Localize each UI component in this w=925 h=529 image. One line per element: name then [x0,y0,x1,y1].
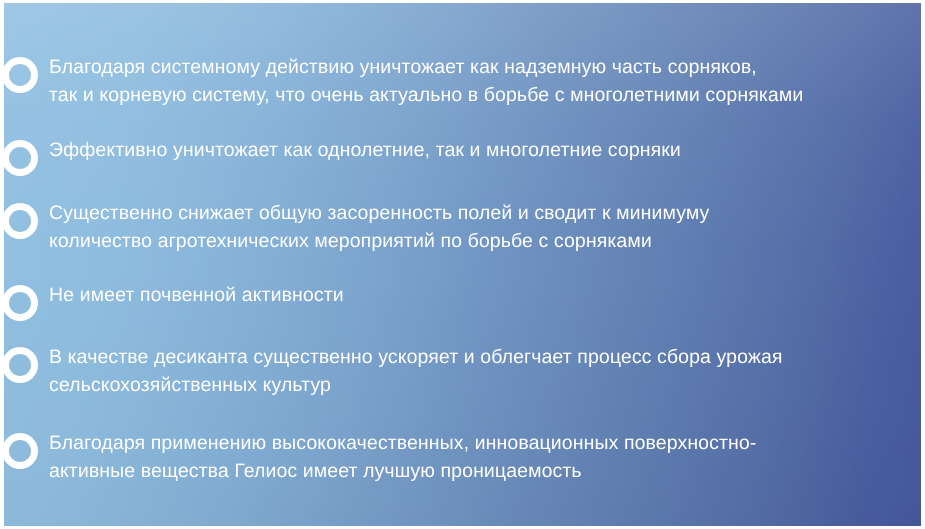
ring-bullet-icon [4,203,38,239]
bullet-text: Эффективно уничтожает как однолетние, та… [49,136,911,164]
ring-bullet-icon [4,347,38,383]
slide-frame: Благодаря системному действию уничтожает… [0,0,925,529]
benefits-bullet-list: Благодаря системному действию уничтожает… [4,3,921,526]
ring-bullet-icon [4,140,38,176]
slide-canvas: Благодаря системному действию уничтожает… [4,3,921,526]
bullet-text: Благодаря применению высококачественных,… [49,429,911,485]
bullet-text: Благодаря системному действию уничтожает… [49,53,911,109]
ring-bullet-icon [4,285,38,321]
bullet-text: В качестве десиканта существенно ускоряе… [49,343,911,399]
ring-bullet-icon [4,57,38,93]
ring-bullet-icon [4,433,38,469]
bullet-text: Существенно снижает общую засоренность п… [49,199,911,255]
bullet-text: Не имеет почвенной активности [49,281,911,309]
